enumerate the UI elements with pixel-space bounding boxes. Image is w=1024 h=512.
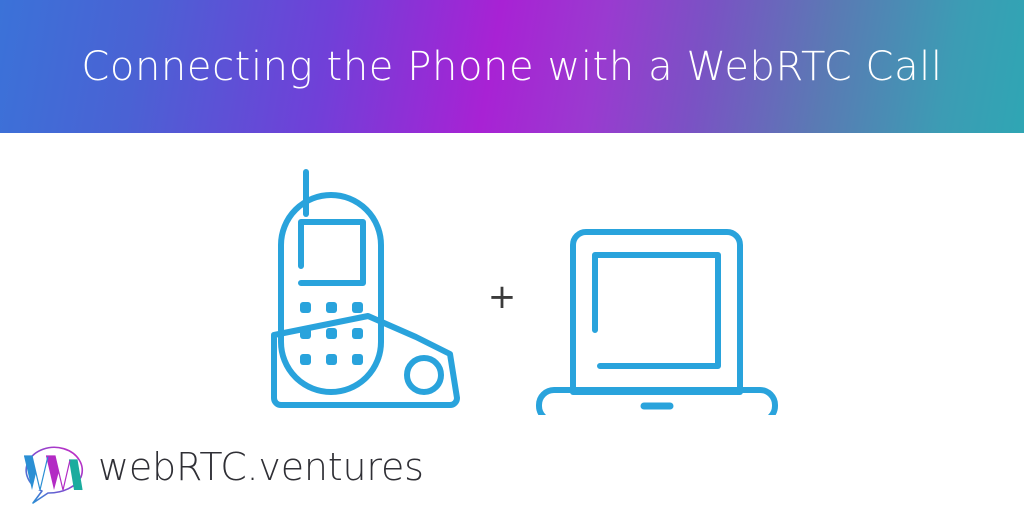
phone-keypad-icon [300,302,363,365]
illustration-svg [248,150,808,415]
illustration-group [248,150,808,415]
laptop-icon [539,232,775,415]
w-ribbon-icon [24,456,82,490]
page-title: Connecting the Phone with a WebRTC Call [0,0,1024,133]
header-banner: Connecting the Phone with a WebRTC Call [0,0,1024,133]
logo-wordmark: webRTC.ventures [98,448,424,488]
logo[interactable]: webRTC.ventures [18,428,424,508]
plus-icon: + [484,278,520,316]
webrtc-ventures-mark-icon [18,428,96,508]
